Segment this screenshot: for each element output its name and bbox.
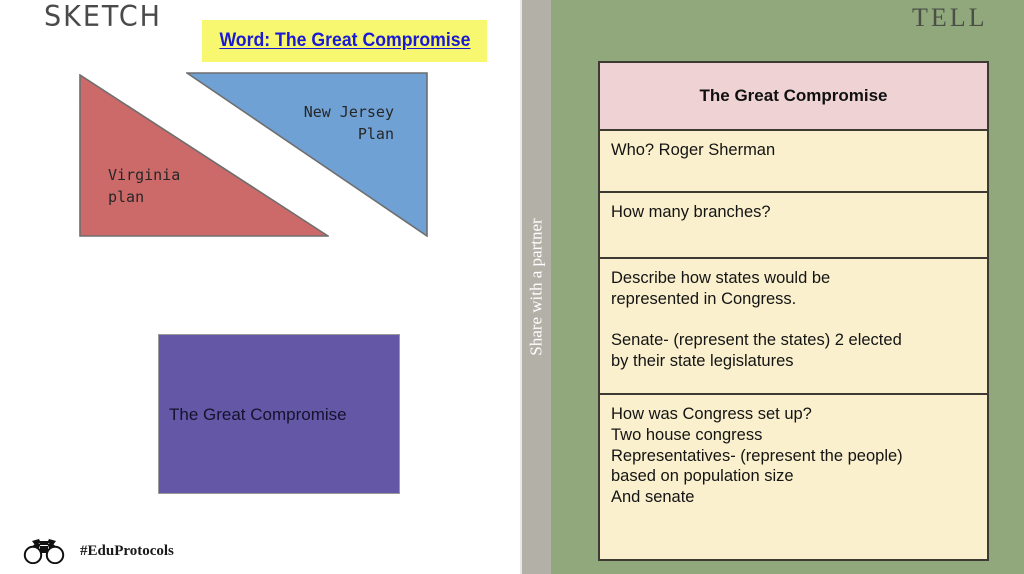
binoculars-icon [22, 538, 68, 564]
sketch-panel: SKETCH Word: The Great Compromise Virgin… [0, 0, 522, 574]
table-row: Who? Roger Sherman [600, 129, 987, 191]
sketch-heading: SKETCH [44, 1, 162, 34]
slide-canvas: SKETCH Word: The Great Compromise Virgin… [0, 0, 1024, 574]
great-compromise-box-label: The Great Compromise [169, 405, 347, 425]
new-jersey-plan-label: New Jersey Plan [272, 102, 394, 146]
eduprotocols-label: #EduProtocols [80, 543, 174, 560]
word-banner-text: Word: The Great Compromise [219, 30, 470, 52]
word-banner: Word: The Great Compromise [202, 20, 487, 62]
new-jersey-plan-triangle [186, 72, 428, 237]
eduprotocols-footer: #EduProtocols [22, 538, 174, 564]
table-row: How was Congress set up? Two house congr… [600, 393, 987, 559]
tell-table: The Great Compromise Who? Roger Sherman … [598, 61, 989, 561]
share-with-partner-text: Share with a partner [527, 218, 547, 355]
table-row: Describe how states would be represented… [600, 257, 987, 393]
share-with-partner-label: Share with a partner [522, 0, 551, 574]
table-header-cell: The Great Compromise [600, 63, 987, 129]
table-row: How many branches? [600, 191, 987, 257]
tell-panel: TELL The Great Compromise Who? Roger She… [551, 0, 1024, 574]
tell-heading: TELL [912, 3, 988, 33]
virginia-plan-label: Virginia plan [108, 165, 180, 209]
